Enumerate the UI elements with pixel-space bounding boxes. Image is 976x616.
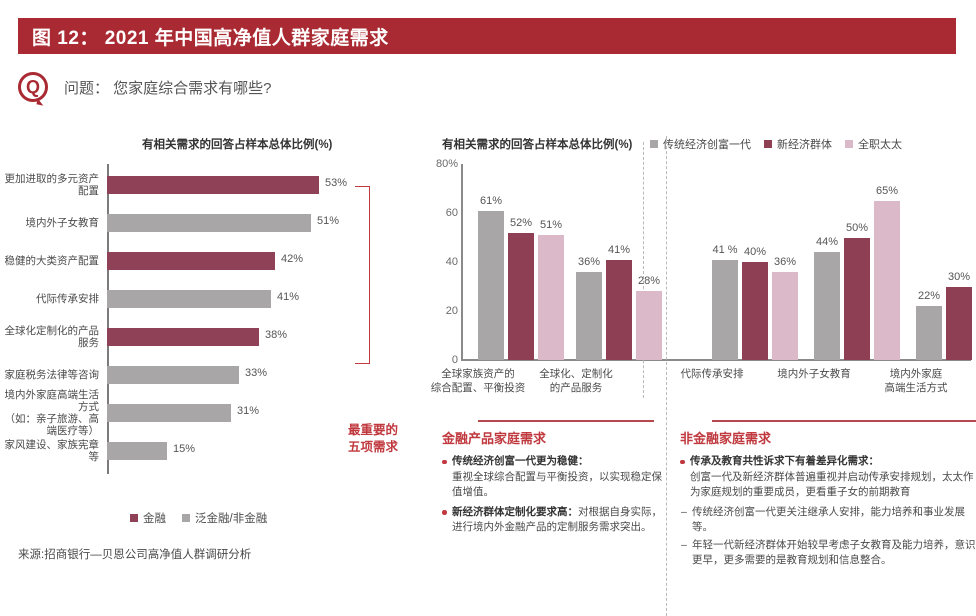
y-axis-tick-label: 80%: [436, 158, 458, 170]
legend-item-new-economy: 新经济群体: [764, 136, 832, 152]
bar: 52%: [508, 233, 534, 360]
bar: 65%: [874, 201, 900, 360]
bar: [107, 214, 311, 232]
bar: [107, 328, 259, 346]
bar-value-label: 33%: [245, 367, 267, 379]
bar: 51%: [538, 235, 564, 360]
bar-row: 全球化定制化的产品服务38%: [0, 320, 400, 354]
bar: 36%: [576, 272, 602, 360]
bar-row: 境内外家庭高端生活方式（如：亲子旅游、高端医疗等）31%: [0, 396, 400, 430]
panel-bullet: 新经济群体定制化要求高：对根据自身实际，进行境内外金融产品的定制服务需求突出。: [442, 505, 670, 536]
y-axis-tick-label: 40: [446, 256, 458, 268]
source-note: 来源:招商银行—贝恩公司高净值人群调研分析: [18, 546, 251, 562]
text-panels: 金融产品家庭需求 传统经济创富一代更为稳健： 重视全球综合配置与平衡投资，以实现…: [428, 428, 976, 616]
bar-value-label: 44%: [816, 236, 838, 248]
legend-swatch-icon: [130, 514, 138, 522]
bar-track: 38%: [103, 320, 400, 354]
bar-value-label: 30%: [948, 271, 970, 283]
left-chart-plot: 最重要的 五项需求 更加进取的多元资产配置53%境内外子女教育51%稳健的大类资…: [0, 164, 400, 474]
bar-value-label: 28%: [638, 275, 660, 287]
y-axis-tick-label: 0: [452, 354, 458, 366]
bar-group-bars: 44%50%65%: [814, 164, 900, 360]
left-chart-legend: 金融 泛金融/非金融: [130, 510, 267, 526]
section-underline: [478, 420, 654, 422]
legend-swatch-icon: [764, 140, 772, 148]
legend-item-nonfinance: 泛金融/非金融: [182, 510, 267, 526]
y-axis-tick-label: 20: [446, 305, 458, 317]
question-row: Q 问题： 您家庭综合需求有哪些?: [18, 72, 272, 102]
bar-value-label: 51%: [540, 219, 562, 231]
bar: 50%: [844, 238, 870, 361]
legend-item-finance: 金融: [130, 510, 166, 526]
bar-track: 31%: [103, 396, 400, 430]
legend-label: 传统经济创富一代: [663, 136, 751, 152]
bar-group-bars: 61%52%51%: [478, 164, 564, 360]
bar: 41 %: [712, 260, 738, 360]
bullet-bold: 新经济群体定制化要求高：: [452, 506, 578, 518]
bar: [107, 176, 319, 194]
legend-label: 新经济群体: [777, 136, 832, 152]
left-chart: 有相关需求的回答占样本总体比例(%) 最重要的 五项需求 更加进取的多元资产配置…: [0, 136, 400, 566]
bar: [107, 404, 231, 422]
bar-row: 稳健的大类资产配置42%: [0, 244, 400, 278]
bar-groups: 61%52%51%全球家族资产的综合配置、平衡投资36%41%28%全球化、定制…: [464, 164, 972, 360]
bar-value-label: 61%: [480, 195, 502, 207]
bar: 30%: [946, 287, 972, 361]
right-chart-title: 有相关需求的回答占样本总体比例(%): [442, 136, 632, 152]
bar-value-label: 41%: [608, 244, 630, 256]
bar-value-label: 40%: [744, 246, 766, 258]
y-axis-line: [461, 164, 463, 360]
y-axis-labels: 80%6040200: [428, 164, 458, 360]
bar-category-label: 稳健的大类资产配置: [0, 255, 103, 267]
bar-value-label: 36%: [578, 256, 600, 268]
legend-swatch-icon: [182, 514, 190, 522]
bar-value-label: 36%: [774, 256, 796, 268]
bar-value-label: 22%: [918, 290, 940, 302]
right-chart-legend: 传统经济创富一代 新经济群体 全职太太: [650, 136, 902, 152]
bar-track: 51%: [103, 206, 400, 240]
panel-nonfinancial-needs: 非金融家庭需求 传承及教育共性诉求下有着差异化需求： 创富一代及新经济群体普遍重…: [680, 428, 976, 569]
question-text: 问题： 您家庭综合需求有哪些?: [64, 77, 272, 98]
bar-track: 15%: [103, 434, 400, 468]
panel-heading: 非金融家庭需求: [680, 428, 976, 447]
right-chart-plot: 80%6040200 61%52%51%全球家族资产的综合配置、平衡投资36%4…: [428, 164, 976, 379]
panel-bullet: 传承及教育共性诉求下有着差异化需求： 创富一代及新经济群体普遍重视并启动传承安排…: [680, 454, 976, 501]
bar-value-label: 31%: [237, 405, 259, 417]
legend-swatch-icon: [650, 140, 658, 148]
bar-value-label: 15%: [173, 443, 195, 455]
bar-group-bars: 41 %40%36%: [712, 164, 798, 360]
panel-financial-needs: 金融产品家庭需求 传统经济创富一代更为稳健： 重视全球综合配置与平衡投资，以实现…: [442, 428, 670, 540]
bullet-bold: 传统经济创富一代更为稳健：: [452, 455, 589, 467]
question-circle-icon: Q: [18, 72, 48, 102]
bar-row: 家庭税务法律等咨询33%: [0, 358, 400, 392]
bullet-text: 创富一代及新经济群体普遍重视并启动传承安排规划，太太作为家庭规划的重要成员，更看…: [690, 471, 974, 499]
bar-category-label: 境内外子女教育: [0, 217, 103, 229]
panel-divider: [666, 136, 667, 616]
bar-group-bars: 36%41%28%: [576, 164, 662, 360]
bar-row: 境内外子女教育51%: [0, 206, 400, 240]
legend-swatch-icon: [845, 140, 853, 148]
legend-label: 金融: [143, 510, 166, 526]
bar-track: 33%: [103, 358, 400, 392]
x-axis-group-label: 境内外家庭高端生活方式: [851, 367, 976, 395]
bar-track: 42%: [103, 244, 400, 278]
panel-bullet: 传统经济创富一代更为稳健： 重视全球综合配置与平衡投资，以实现稳定保值增值。: [442, 454, 670, 501]
legend-label: 全职太太: [858, 136, 902, 152]
bar-category-label: 家风建设、家族宪章等: [0, 439, 103, 463]
bar-value-label: 51%: [317, 215, 339, 227]
left-chart-title: 有相关需求的回答占样本总体比例(%): [142, 136, 332, 152]
bar-row: 代际传承安排41%: [0, 282, 400, 316]
bar-value-label: 50%: [846, 222, 868, 234]
bar: 36%: [772, 272, 798, 360]
bar-value-label: 52%: [510, 217, 532, 229]
bar-row: 更加进取的多元资产配置53%: [0, 168, 400, 202]
bar: 44%: [814, 252, 840, 360]
bullet-text: 重视全球综合配置与平衡投资，以实现稳定保值增值。: [452, 471, 662, 499]
bar-row: 家风建设、家族宪章等15%: [0, 434, 400, 468]
title-bar: 图 12： 2021 年中国高净值人群家庭需求: [18, 18, 956, 54]
bar-value-label: 65%: [876, 185, 898, 197]
section-underline: [712, 420, 976, 422]
page-title: 图 12： 2021 年中国高净值人群家庭需求: [18, 23, 389, 50]
bar-value-label: 41%: [277, 291, 299, 303]
bar: [107, 442, 167, 460]
bar: 40%: [742, 262, 768, 360]
infographic-page: 图 12： 2021 年中国高净值人群家庭需求 Q 问题： 您家庭综合需求有哪些…: [0, 0, 976, 616]
legend-label: 泛金融/非金融: [195, 510, 267, 526]
legend-item-housewife: 全职太太: [845, 136, 902, 152]
bar-track: 41%: [103, 282, 400, 316]
bar: 61%: [478, 211, 504, 360]
x-axis-group-label: 全球化、定制化的产品服务: [511, 367, 641, 395]
bar: 41%: [606, 260, 632, 360]
bar-category-label: 更加进取的多元资产配置: [0, 173, 103, 197]
bar-track: 53%: [103, 168, 400, 202]
panel-heading: 金融产品家庭需求: [442, 428, 670, 447]
bar: [107, 366, 239, 384]
bar-category-label: 境内外家庭高端生活方式（如：亲子旅游、高端医疗等）: [0, 389, 103, 437]
bar-value-label: 42%: [281, 253, 303, 265]
y-axis-tick-label: 60: [446, 207, 458, 219]
bar-value-label: 38%: [265, 329, 287, 341]
bar-category-label: 代际传承安排: [0, 293, 103, 305]
bar-group-bars: 22%30%45%: [916, 164, 976, 360]
bar-category-label: 全球化定制化的产品服务: [0, 325, 103, 349]
bar-value-label: 41 %: [712, 244, 737, 256]
bar: [107, 252, 275, 270]
bar: 28%: [636, 291, 662, 360]
bar: 22%: [916, 306, 942, 360]
bullet-bold: 传承及教育共性诉求下有着差异化需求：: [690, 455, 879, 467]
panel-subitem: 传统经济创富一代更关注继承人安排，能力培养和事业发展等。: [680, 505, 976, 536]
panel-subitem: 年轻一代新经济群体开始较早考虑子女教育及能力培养，意识更早，更多需要的是教育规划…: [680, 538, 976, 569]
bar-value-label: 53%: [325, 177, 347, 189]
bar-category-label: 家庭税务法律等咨询: [0, 369, 103, 381]
bar: [107, 290, 271, 308]
